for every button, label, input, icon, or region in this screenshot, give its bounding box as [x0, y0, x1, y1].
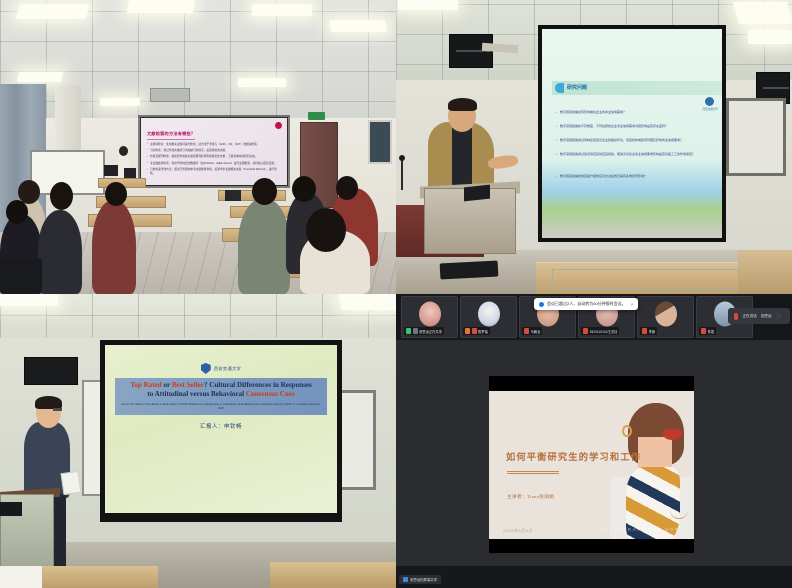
exit-sign-icon [308, 112, 325, 120]
front-desk [40, 566, 158, 588]
participant-name: 3520115134王灵钰 [590, 329, 618, 334]
mic-off-icon [524, 328, 529, 334]
toast-message: 会议已超过2人，自动转为60分钟限时会议。 [547, 301, 626, 307]
shared-slide-title: 如何平衡研究生的学习和工作 [506, 449, 641, 463]
mic-on-icon [406, 328, 411, 334]
mic-off-icon [583, 328, 588, 334]
ceiling-light [252, 4, 312, 16]
slide-header-band: 研究问题 [552, 81, 723, 95]
student-head [50, 182, 73, 210]
cat-avatar-icon [419, 301, 441, 326]
camera-icon [413, 328, 418, 334]
ceiling-light [238, 78, 286, 87]
slide-bullet: 引文检索：通过查找文献的引用和被引用情况，发现相关的文献。 [147, 149, 281, 153]
projection-screen: 文献检索的方法有哪些？ 主题词检索：使用相关主题词进行检索，适合用于查找与（AN… [140, 117, 288, 186]
wall-monitor [368, 120, 392, 164]
info-dot-icon [539, 302, 544, 307]
participant-namebar: 林霞 [699, 327, 716, 335]
projection-screen: 研究问题 西安交通大学 数字贸易政策如何影响跨境企业的商业信用需求？ 数字贸易政… [538, 25, 726, 242]
ceiling-light [17, 72, 63, 82]
mic-red-icon [734, 313, 738, 320]
participant-name: 林霞 [708, 329, 715, 334]
slide-bullet: 专业数据库检索：利用学科特定的数据库（如PubMed、IEEE Xplore）进… [147, 162, 281, 166]
shared-screen-stage[interactable]: 如何平衡研究生的学习和工作 主讲者：Tiana张丽娟 ILLUSTRATED B… [396, 340, 792, 588]
slide-bullet: 数字贸易政策通过何种途径改善企业的融资环境，包括机构或政府管理及影响商业信用需求… [556, 139, 722, 143]
paper-stack [0, 566, 42, 588]
projection-screen: 西安交通大学 Top Rated or Best Seller? Cultura… [100, 340, 342, 522]
student-head [105, 182, 127, 206]
participant-namebar: 马朝龙 [522, 327, 542, 335]
desk-monitor [124, 168, 136, 178]
participant-namebar: 李静 [640, 327, 657, 335]
screen-share-label: 张思远的屏幕共享 [410, 577, 437, 582]
screen-share-icon [403, 577, 408, 582]
speaking-name: 张思远 [761, 314, 772, 319]
participant-namebar: 张思远正在共享 [404, 327, 444, 335]
wall-pillar [55, 86, 81, 152]
slide-title-band: Top Rated or Best Seller? Cultural Diffe… [115, 378, 327, 415]
presenter-glasses-icon [53, 408, 62, 411]
illustration-earring [622, 425, 632, 437]
lecturer-head [119, 146, 128, 156]
printed-notes [61, 471, 82, 495]
university-header: 西安交通大学 [115, 363, 327, 374]
shared-slide-subtitle: 主讲者：Tiana张丽娟 [507, 494, 554, 500]
participant-name: 陈梦瑶 [478, 329, 488, 334]
panel-student-presentation: 西安交通大学 Top Rated or Best Seller? Cultura… [0, 294, 396, 588]
desk-monitor [104, 165, 118, 176]
ceiling-light [127, 0, 195, 13]
illustration-necklace [670, 501, 688, 519]
student-head [292, 176, 316, 202]
student-figure [38, 210, 82, 294]
chair-back [0, 258, 42, 294]
ceiling-light [16, 4, 90, 19]
slide-title: 文献检索的方法有哪些？ [147, 131, 195, 140]
mic-off-icon [642, 328, 647, 334]
panel-classroom-lecture: 文献检索的方法有哪些？ 主题词检索：使用相关主题词进行检索，适合用于查找与（AN… [0, 0, 396, 294]
participant-filmstrip[interactable]: 张思远正在共享 陈梦瑶 马朝龙 [396, 294, 792, 340]
panel-presenter-podium: 研究问题 西安交通大学 数字贸易政策如何影响跨境企业的商业信用需求？ 数字贸易政… [396, 0, 792, 294]
participant-name: 马朝龙 [531, 329, 541, 334]
illustration-watermark: ILLUSTRATED BY NORA [603, 527, 684, 532]
slide-content: 西安交通大学 Top Rated or Best Seller? Cultura… [105, 361, 337, 495]
university-shield-icon [705, 97, 714, 106]
title-rest-line1: ? Cultural Differences in Responses [204, 381, 312, 389]
mic-off-icon [701, 328, 706, 334]
sound-wave-icon: 〉〉 [776, 311, 785, 321]
ceiling-light [329, 20, 388, 32]
ceiling-light [338, 294, 396, 310]
university-name: 西安交通大学 [214, 366, 242, 372]
host-badge-icon [465, 328, 470, 334]
ceiling-light [733, 2, 792, 24]
participant-name: 张思远正在共享 [419, 329, 442, 334]
wall-speaker [24, 357, 78, 385]
student-head [6, 200, 28, 224]
active-speaker-indicator: 正在讲话 张思远 〉〉 [728, 308, 790, 324]
ceiling-vent [150, 88, 190, 102]
ceiling-light [398, 0, 458, 10]
slide-bullet: 数字贸易政策通过改善供应链供应链韧性，能改善对企业商业信用需求影响是否具备工工的… [556, 153, 720, 157]
microphone-stand [401, 160, 403, 190]
student-figure [238, 198, 290, 294]
slide-bullet: 数字贸易政策的不同维度，不同性质的企业商业信用需求对其影响是否存在差异？ [556, 125, 722, 129]
participant-name: 李静 [649, 329, 656, 334]
meeting-window: 张思远正在共享 陈梦瑶 马朝龙 [396, 294, 792, 588]
slide-bullet: 主题词检索：使用相关主题词进行检索，适合用于查找与（AND、OR、NOT）的相关… [147, 143, 281, 147]
close-icon[interactable]: × [631, 302, 634, 307]
speaking-label: 正在讲话 [742, 314, 756, 319]
title-highlight-top-rated: Top Rated [130, 381, 161, 389]
ceiling-light [748, 30, 792, 44]
illustration-lips [663, 429, 682, 440]
university-shield-icon [201, 363, 211, 374]
participant-tile[interactable]: 陈梦瑶 [460, 296, 517, 338]
participant-tile[interactable]: 李静 [637, 296, 694, 338]
title-highlight-best-seller: Best Seller [172, 381, 204, 389]
slide-bullet: 数字贸易政策如何影响跨境企业的商业信用需求？ [556, 111, 716, 115]
presenter-shirt [452, 128, 472, 190]
shared-slide-date: 2023年6月9日 [503, 528, 533, 534]
title-highlight-consensus-cues: Consensus Cues [246, 390, 295, 398]
slide-header-title: 研究问题 [567, 84, 587, 91]
slide-citation: Anton J D, Sharon S.Top Rated or Best Se… [119, 403, 323, 411]
panel-online-meeting: 张思远正在共享 陈梦瑶 马朝龙 [396, 294, 792, 588]
participant-tile[interactable]: 张思远正在共享 [401, 296, 458, 338]
equipment-case [440, 260, 499, 279]
ceiling-light [100, 98, 140, 106]
photo-collage: 文献检索的方法有哪些？ 主题词检索：使用相关主题词进行检索，适合用于查找与（AN… [0, 0, 792, 588]
title-conjunction: or [162, 381, 172, 389]
header-accent-icon [555, 83, 564, 93]
shared-content-frame: 如何平衡研究生的学习和工作 主讲者：Tiana张丽娟 ILLUSTRATED B… [489, 376, 694, 553]
title-line2: to Attitudinal versus Behavioral [147, 390, 246, 398]
slide-bullet: 数字贸易政策的供应链升级效应对企业绩效及其有多维经济影响？ [556, 175, 720, 179]
student-figure [92, 200, 136, 294]
illustration-artwork [610, 403, 694, 539]
whiteboard [726, 98, 786, 176]
title-underline [507, 471, 559, 474]
front-desk [536, 262, 766, 294]
student-head [252, 178, 277, 205]
student-head [306, 208, 346, 252]
photo-avatar-icon [655, 301, 677, 326]
university-emblem-icon [275, 122, 282, 129]
student-head [336, 176, 358, 200]
desk-monitor [225, 190, 241, 201]
side-desk [738, 250, 792, 294]
participant-namebar: 陈梦瑶 [463, 327, 490, 335]
keyboard [0, 502, 22, 516]
screen-share-chip[interactable]: 张思远的屏幕共享 [399, 575, 441, 584]
meeting-limit-toast[interactable]: 会议已超过2人，自动转为60分钟限时会议。 × [534, 298, 638, 310]
mic-off-icon [472, 328, 477, 334]
participant-namebar: 3520115134王灵钰 [581, 327, 619, 335]
ceiling-light [0, 294, 58, 306]
slide-presenter: 汇报人：申钦畅 [115, 422, 327, 430]
shared-slide: 如何平衡研究生的学习和工作 主讲者：Tiana张丽娟 ILLUSTRATED B… [489, 391, 694, 539]
front-desk [270, 562, 396, 588]
rabbit-avatar-icon [478, 301, 500, 326]
laptop [464, 185, 490, 202]
slide-bullet: 引用的滚雪球方法：通过已查阅的参考文献继续查找，追溯学术主题相关文献（Snowb… [147, 168, 281, 175]
presenter-hair [448, 98, 477, 111]
slide-title: Top Rated or Best Seller? Cultural Diffe… [119, 381, 323, 400]
slide-bullet: 作者及期刊检索：指按照作者姓名或者期刊名称查找特定的文章，了解领域内的研究动态。 [147, 155, 281, 159]
meeting-footer: 张思远的屏幕共享 [396, 566, 792, 588]
